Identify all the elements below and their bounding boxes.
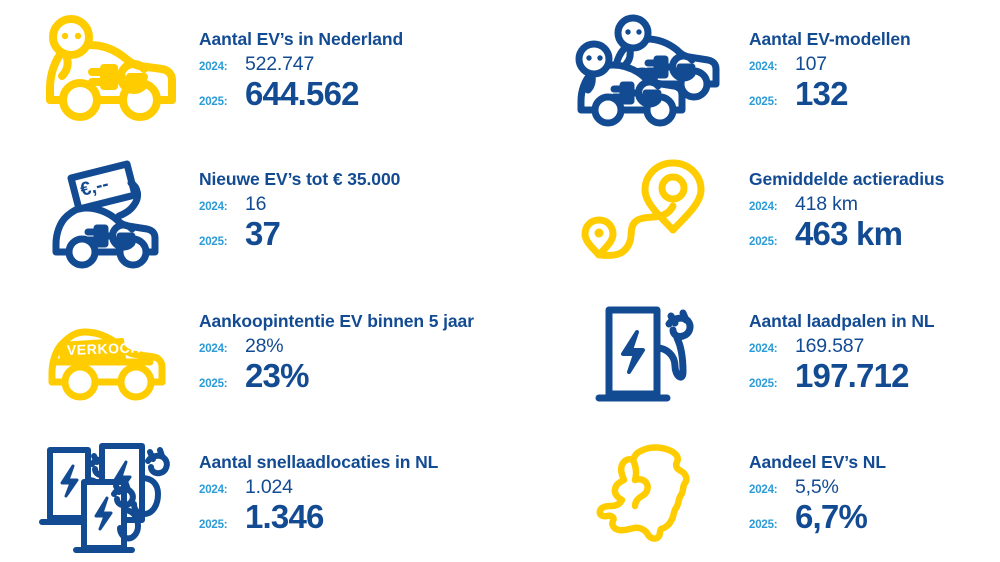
two-ev-cars-icon [558, 11, 743, 129]
ev-car-with-socket-icon [28, 11, 193, 129]
netherlands-map-icon [558, 435, 743, 553]
stat-block-nieuwe-evs-tot-35000: €,-- Nieuwe EV’s tot € 35.000 2024: 16 2… [0, 140, 540, 280]
year-label-previous: 2024: [199, 484, 241, 496]
stats-grid: Aantal EV’s in Nederland 2024: 522.747 2… [0, 0, 1000, 562]
year-label-previous: 2024: [749, 201, 791, 213]
stat-block-aankoopintentie-ev-binnen-5-jaar: VERKOCHT Aankoopintentie EV binnen 5 jaa… [0, 280, 540, 425]
year-label-previous: 2024: [749, 343, 791, 355]
stat-value-previous: 522.747 [241, 53, 314, 76]
year-label-current: 2025: [749, 236, 791, 248]
stat-value-current: 37 [241, 217, 280, 252]
year-label-current: 2025: [199, 236, 241, 248]
stat-text-group: Nieuwe EV’s tot € 35.000 2024: 16 2025: … [193, 169, 540, 252]
stat-row-previous-year: 2024: 107 [749, 53, 1000, 76]
stat-text-group: Aantal laadpalen in NL 2024: 169.587 202… [743, 311, 1000, 394]
year-label-previous: 2024: [199, 61, 241, 73]
stat-value-current: 197.712 [791, 359, 909, 394]
stat-text-group: Aankoopintentie EV binnen 5 jaar 2024: 2… [193, 311, 540, 394]
year-label-previous: 2024: [199, 343, 241, 355]
stat-row-current-year: 2025: 37 [199, 217, 540, 252]
stat-value-current: 1.346 [241, 500, 324, 535]
stat-row-previous-year: 2024: 522.747 [199, 53, 540, 76]
stat-row-current-year: 2025: 6,7% [749, 500, 1000, 535]
stat-text-group: Aandeel EV’s NL 2024: 5,5% 2025: 6,7% [743, 452, 1000, 535]
year-label-previous: 2024: [199, 201, 241, 213]
stat-value-current: 132 [791, 77, 848, 112]
sold-car-icon: VERKOCHT [28, 294, 193, 412]
stat-block-aandeel-evs-nl: Aandeel EV’s NL 2024: 5,5% 2025: 6,7% [540, 425, 1000, 562]
stat-row-previous-year: 2024: 169.587 [749, 335, 1000, 358]
stat-row-current-year: 2025: 463 km [749, 217, 1000, 252]
stat-row-previous-year: 2024: 16 [199, 193, 540, 216]
stat-block-aantal-snellaadlocaties-in-nl: Aantal snellaadlocaties in NL 2024: 1.02… [0, 425, 540, 562]
fast-charging-stations-icon [28, 435, 193, 553]
year-label-previous: 2024: [749, 61, 791, 73]
stat-value-previous: 169.587 [791, 335, 864, 358]
stat-row-previous-year: 2024: 418 km [749, 193, 1000, 216]
stat-value-previous: 5,5% [791, 476, 839, 499]
stat-value-current: 6,7% [791, 500, 867, 535]
stat-title: Aantal EV’s in Nederland [199, 29, 540, 49]
stat-title: Gemiddelde actieradius [749, 169, 1000, 189]
stat-text-group: Aantal EV’s in Nederland 2024: 522.747 2… [193, 29, 540, 112]
stat-title: Nieuwe EV’s tot € 35.000 [199, 169, 540, 189]
charging-station-icon [558, 294, 743, 412]
stat-row-current-year: 2025: 132 [749, 77, 1000, 112]
stat-row-previous-year: 2024: 1.024 [199, 476, 540, 499]
stat-title: Aantal laadpalen in NL [749, 311, 1000, 331]
year-label-current: 2025: [199, 96, 241, 108]
stat-text-group: Aantal snellaadlocaties in NL 2024: 1.02… [193, 452, 540, 535]
year-label-current: 2025: [199, 519, 241, 531]
year-label-current: 2025: [749, 96, 791, 108]
stat-value-current: 463 km [791, 217, 902, 252]
year-label-current: 2025: [199, 378, 241, 390]
stat-value-previous: 107 [791, 53, 827, 76]
stat-value-current: 23% [241, 359, 309, 394]
ev-car-price-tag-icon: €,-- [28, 151, 193, 269]
stat-title: Aantal EV-modellen [749, 29, 1000, 49]
stat-block-aantal-evs-in-nederland: Aantal EV’s in Nederland 2024: 522.747 2… [0, 0, 540, 140]
stat-row-current-year: 2025: 644.562 [199, 77, 540, 112]
stat-title: Aantal snellaadlocaties in NL [199, 452, 540, 472]
stat-block-gemiddelde-actieradius: Gemiddelde actieradius 2024: 418 km 2025… [540, 140, 1000, 280]
year-label-current: 2025: [749, 519, 791, 531]
stat-title: Aankoopintentie EV binnen 5 jaar [199, 311, 540, 331]
sold-sign-text: VERKOCHT [66, 339, 150, 358]
stat-block-aantal-laadpalen-in-nl: Aantal laadpalen in NL 2024: 169.587 202… [540, 280, 1000, 425]
stat-title: Aandeel EV’s NL [749, 452, 1000, 472]
stat-row-current-year: 2025: 197.712 [749, 359, 1000, 394]
year-label-previous: 2024: [749, 484, 791, 496]
stat-row-previous-year: 2024: 28% [199, 335, 540, 358]
stat-row-current-year: 2025: 1.346 [199, 500, 540, 535]
stat-row-previous-year: 2024: 5,5% [749, 476, 1000, 499]
stat-value-previous: 1.024 [241, 476, 293, 499]
route-map-pins-icon [558, 151, 743, 269]
stat-text-group: Aantal EV-modellen 2024: 107 2025: 132 [743, 29, 1000, 112]
stat-value-previous: 418 km [791, 193, 858, 216]
stat-value-current: 644.562 [241, 77, 359, 112]
stat-value-previous: 16 [241, 193, 266, 216]
ev-statistics-infographic: Aantal EV’s in Nederland 2024: 522.747 2… [0, 0, 1000, 562]
stat-block-aantal-ev-modellen: Aantal EV-modellen 2024: 107 2025: 132 [540, 0, 1000, 140]
stat-value-previous: 28% [241, 335, 283, 358]
year-label-current: 2025: [749, 378, 791, 390]
stat-row-current-year: 2025: 23% [199, 359, 540, 394]
stat-text-group: Gemiddelde actieradius 2024: 418 km 2025… [743, 169, 1000, 252]
